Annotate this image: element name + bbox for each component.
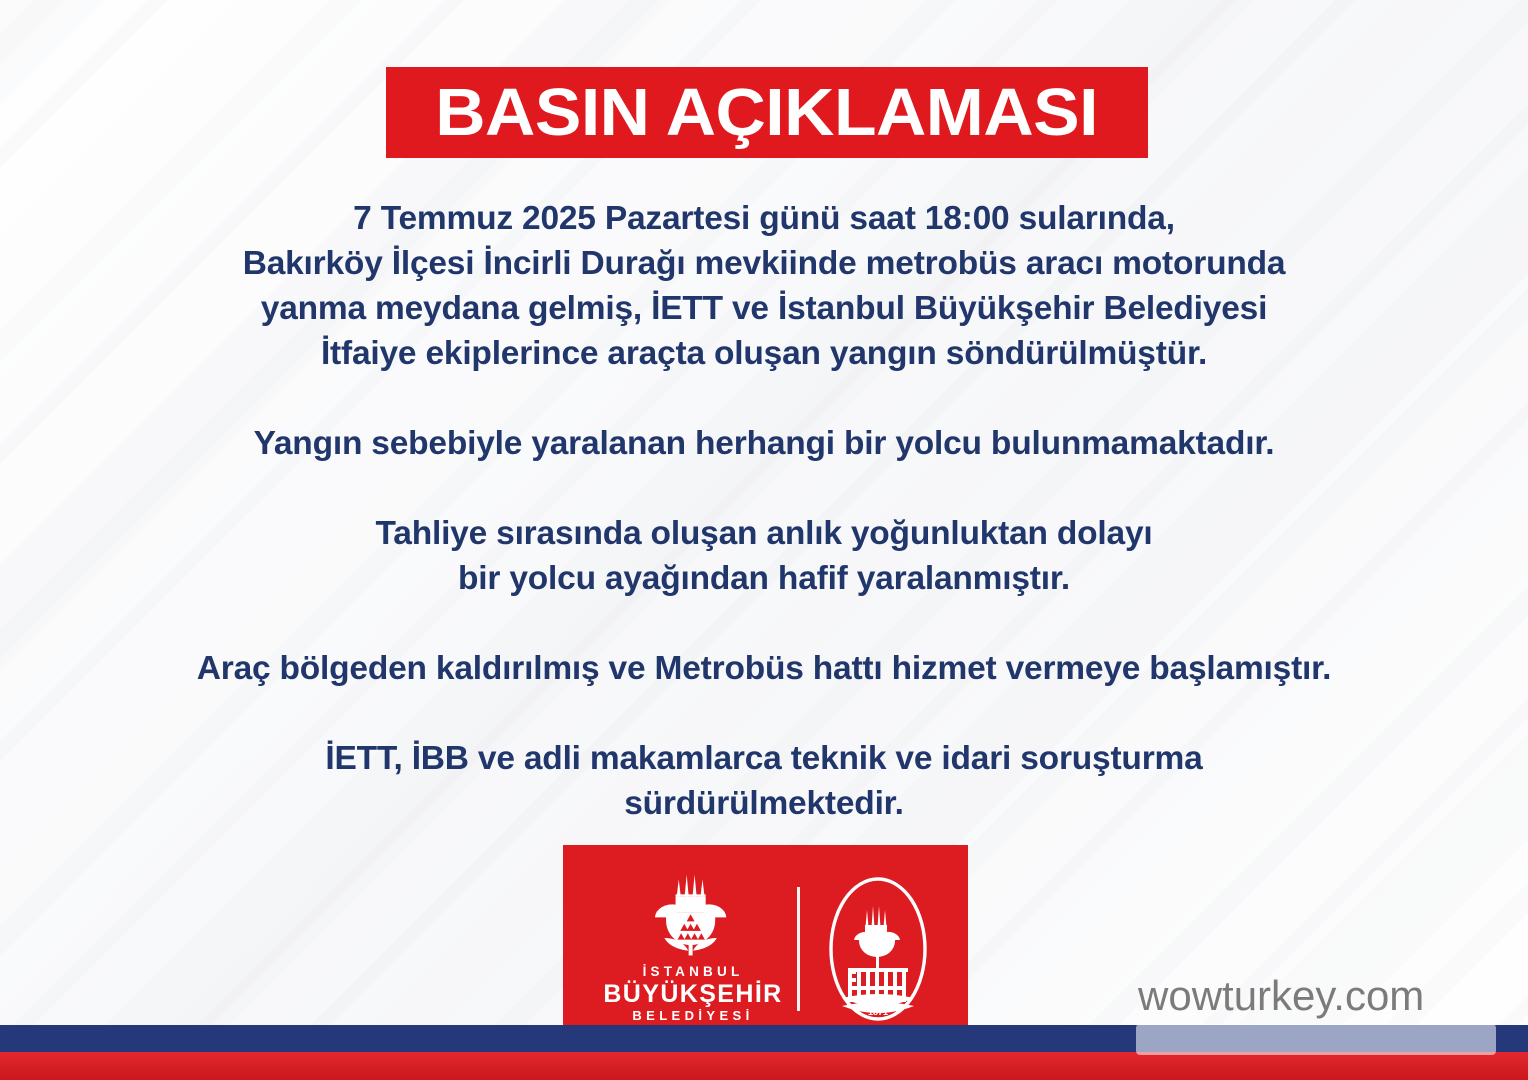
istanbul-tulip-minaret-emblem-icon	[645, 873, 741, 957]
logo-divider	[797, 887, 800, 1011]
logo-panel: İSTANBUL BÜYÜKŞEHİR BELEDİYESİ	[563, 845, 968, 1052]
footer-red-bar-shading	[0, 1052, 1528, 1080]
ibb-wordmark-line-2: BÜYÜKŞEHİR	[603, 980, 782, 1009]
watermark-backdrop	[1136, 1024, 1496, 1055]
page-title: BASIN AÇIKLAMASI	[436, 79, 1099, 146]
watermark-label: wowturkey.com	[1138, 975, 1424, 1017]
body-line: İtfaiye ekiplerince araçta oluşan yangın…	[0, 331, 1528, 376]
paragraph-investigation-ongoing: İETT, İBB ve adli makamlarca teknik ve i…	[0, 736, 1528, 826]
paragraph-evacuation-injury: Tahliye sırasında oluşan anlık yoğunlukt…	[0, 511, 1528, 601]
body-line: Tahliye sırasında oluşan anlık yoğunlukt…	[0, 511, 1528, 556]
press-release-poster: BASIN AÇIKLAMASI 7 Temmuz 2025 Pazartesi…	[0, 0, 1528, 1080]
body-line: Araç bölgeden kaldırılmış ve Metrobüs ha…	[0, 646, 1528, 691]
body-line: sürdürülmektedir.	[0, 781, 1528, 826]
footer-red-bar	[0, 1052, 1528, 1080]
body-line: Yangın sebebiyle yaralanan herhangi bir …	[0, 421, 1528, 466]
iett-oval-crest-icon: 1871	[826, 874, 930, 1024]
body-line: yanma meydana gelmiş, İETT ve İstanbul B…	[0, 286, 1528, 331]
paragraph-no-fire-injuries: Yangın sebebiyle yaralanan herhangi bir …	[0, 421, 1528, 466]
body-line: 7 Temmuz 2025 Pazartesi günü saat 18:00 …	[0, 196, 1528, 241]
body-line: bir yolcu ayağından hafif yaralanmıştır.	[0, 556, 1528, 601]
title-banner: BASIN AÇIKLAMASI	[386, 67, 1148, 158]
paragraph-incident-summary: 7 Temmuz 2025 Pazartesi günü saat 18:00 …	[0, 196, 1528, 376]
body-line: Bakırköy İlçesi İncirli Durağı mevkiinde…	[0, 241, 1528, 286]
ibb-wordmark-line-3: BELEDİYESİ	[603, 1008, 782, 1024]
ibb-wordmark-line-1: İSTANBUL	[603, 964, 782, 980]
ibb-logo-wordmark: İSTANBUL BÜYÜKŞEHİR BELEDİYESİ	[603, 964, 782, 1024]
paragraph-service-resumed: Araç bölgeden kaldırılmış ve Metrobüs ha…	[0, 646, 1528, 691]
ibb-logo: İSTANBUL BÜYÜKŞEHİR BELEDİYESİ	[601, 873, 791, 1024]
announcement-body: 7 Temmuz 2025 Pazartesi günü saat 18:00 …	[0, 196, 1528, 826]
body-line: İETT, İBB ve adli makamlarca teknik ve i…	[0, 736, 1528, 781]
iett-crest-year: 1871	[868, 1007, 888, 1017]
